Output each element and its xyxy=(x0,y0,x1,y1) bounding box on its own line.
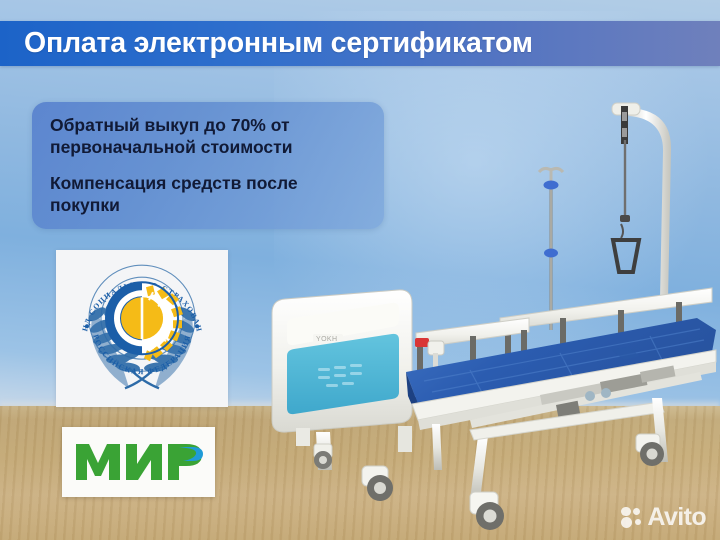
mir-logo-icon xyxy=(74,441,204,483)
title-banner: Оплата электронным сертификатом xyxy=(0,21,720,66)
mir-logo-card xyxy=(62,427,215,497)
bed-caster xyxy=(470,492,504,530)
avito-wordmark: Avito xyxy=(647,505,706,530)
avito-watermark: Avito xyxy=(621,504,706,530)
mir-letters xyxy=(76,444,202,480)
bed-headboard: YOKH xyxy=(272,290,412,432)
bed-trapeze-pole xyxy=(612,103,671,300)
bed-caster xyxy=(314,444,332,469)
promo-image: YOKH xyxy=(0,0,720,540)
avito-dots-icon xyxy=(621,507,642,528)
fss-emblem-icon: ФОНД СОЦИАЛЬНОГО СТРАХОВАНИЯ РОССИЙСКАЯ … xyxy=(67,256,217,396)
benefits-panel: Обратный выкуп до 70% от первоначальной … xyxy=(32,102,384,229)
page-title: Оплата электронным сертификатом xyxy=(0,27,533,60)
bed-caster xyxy=(362,466,393,501)
benefit-line-2: Компенсация средств после покупки xyxy=(50,173,366,216)
fss-logo-card: ФОНД СОЦИАЛЬНОГО СТРАХОВАНИЯ РОССИЙСКАЯ … xyxy=(56,250,228,407)
benefit-line-1: Обратный выкуп до 70% от первоначальной … xyxy=(50,115,366,158)
bed-caster xyxy=(636,434,664,466)
iv-pole xyxy=(539,168,563,330)
svg-text:YOKH: YOKH xyxy=(316,336,337,343)
